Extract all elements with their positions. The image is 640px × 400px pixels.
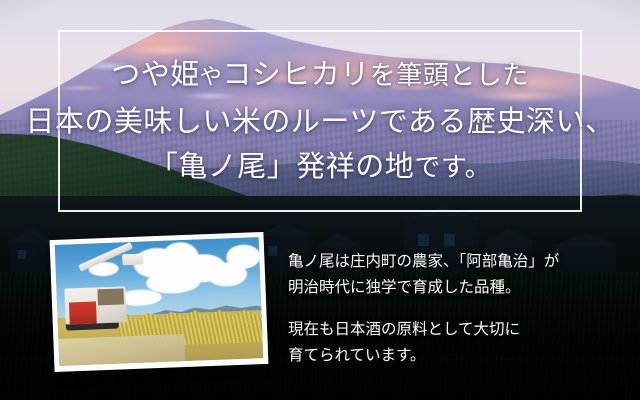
harvester-red-panel [69, 302, 96, 325]
headline-line-3: 「亀ノ尾」発祥の地です。 [0, 143, 640, 191]
headline-line-1: つや姫やコシヒカリを筆頭とした [0, 52, 640, 100]
headline-line-1-small: や [200, 65, 223, 90]
body-para2-line2: 育てられています。 [288, 342, 618, 368]
headline-line-2: 日本の美味しい米のルーツである歴史深い、 [0, 100, 640, 143]
headline-line-1-tail: を筆頭とした [370, 61, 529, 91]
harvester-arm-head [122, 254, 143, 266]
rice-harvester-photo [50, 232, 269, 372]
headline-block: つや姫やコシヒカリを筆頭とした 日本の美味しい米のルーツである歴史深い、 「亀ノ… [0, 52, 640, 191]
harvester-cab [97, 288, 124, 305]
photo-image [55, 237, 263, 366]
headline-line-3-mid: 発祥の地 [296, 149, 414, 183]
photo-cut-stubble [58, 334, 185, 365]
body-para2-line1: 現在も日本酒の原料として大切に [288, 316, 618, 342]
headline-line-1-main: つや姫 [111, 57, 200, 91]
banner-root: つや姫やコシヒカリを筆頭とした 日本の美味しい米のルーツである歴史深い、 「亀ノ… [0, 0, 640, 400]
paragraph-gap [288, 300, 618, 316]
headline-line-3-quote: 「亀ノ尾」 [149, 149, 297, 183]
body-para1-line2: 明治時代に独学で育成した品種。 [288, 274, 618, 300]
body-copy-block: 亀ノ尾は庄内町の農家、「阿部亀治」が 明治時代に独学で育成した品種。 現在も日本… [288, 248, 618, 368]
headline-line-3-tail: です。 [414, 153, 491, 183]
body-para1-line1: 亀ノ尾は庄内町の農家、「阿部亀治」が [288, 248, 618, 274]
headline-line-1-mid: コシヒカリ [222, 57, 370, 91]
